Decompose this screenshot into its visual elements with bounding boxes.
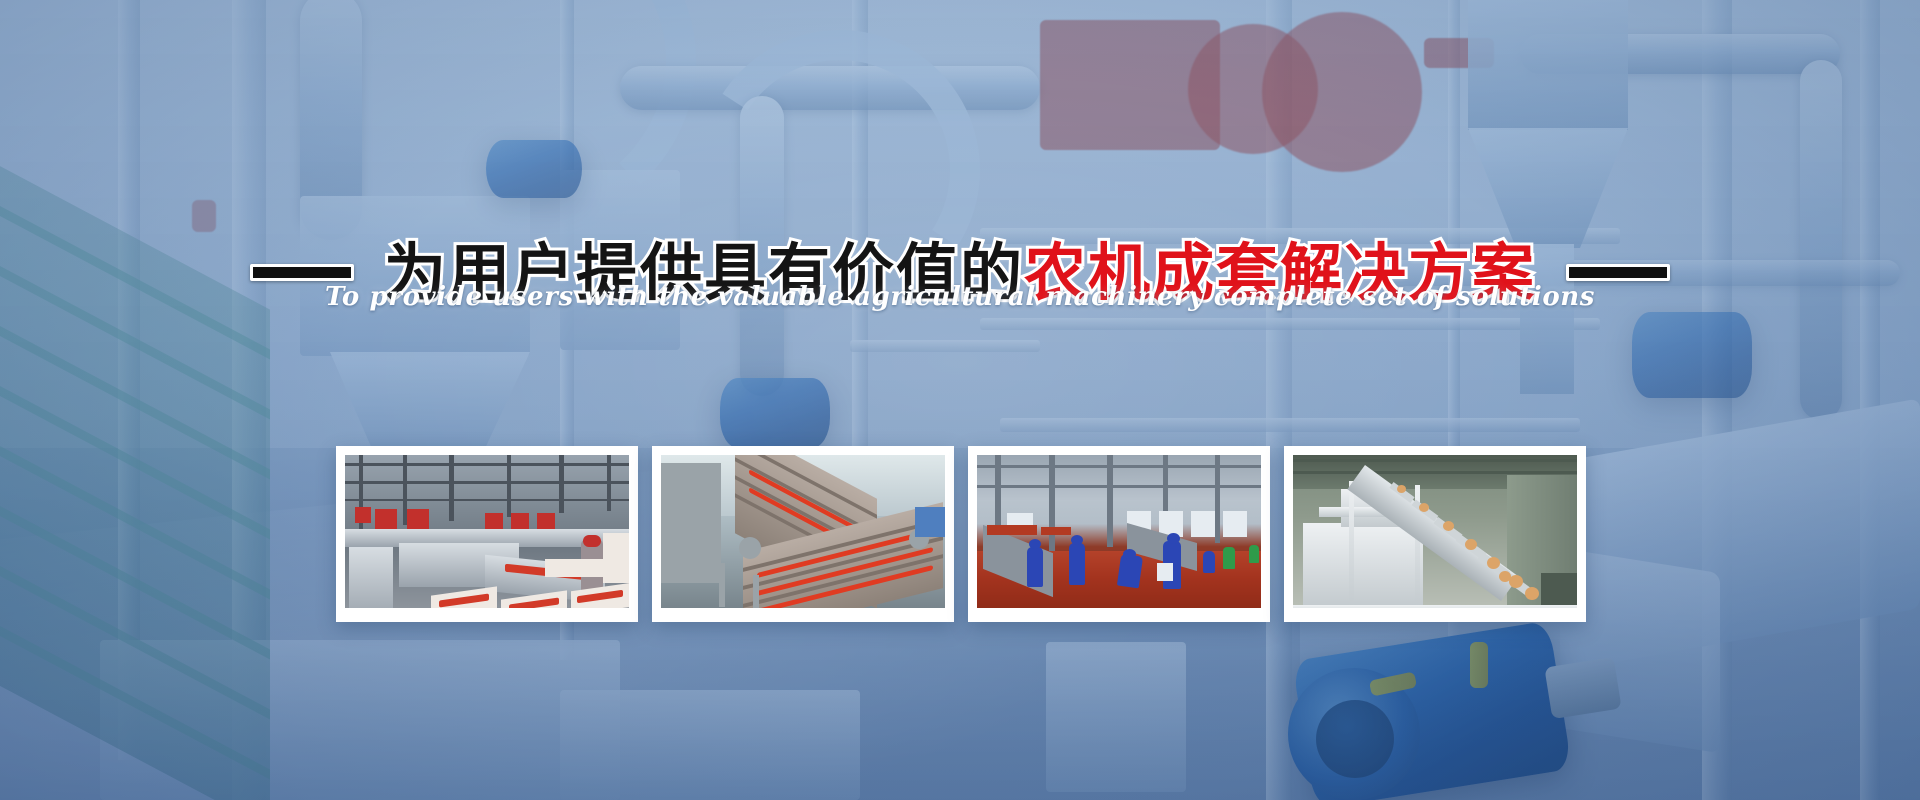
roof-truss [345,481,629,484]
duct-elbow [667,517,711,535]
roof-beam [977,485,1261,488]
worker [1069,543,1085,585]
worker-cap [1029,539,1041,549]
worker-green-coat [1223,547,1235,569]
worker-sack [1157,563,1173,581]
equipment-shadow [1541,573,1577,608]
red-banner [355,507,371,523]
onion [1525,587,1539,600]
onion [1499,571,1511,582]
support-post [1349,481,1354,608]
hero-banner: 为用户提供具有价值的农机成套解决方案 To provide users with… [0,0,1920,800]
onion [1487,557,1500,569]
thumbnail-image [345,455,629,608]
worker-cap [1071,535,1083,545]
worker-cap [1123,549,1136,559]
thumbnail-image [661,455,945,608]
red-banner [407,509,429,529]
support-leg [753,575,759,608]
roof-beam [1293,471,1577,474]
onion [1509,575,1523,588]
thumbnail-goji-berry-processing-line[interactable] [336,446,638,622]
red-banner [375,509,397,529]
thumbnail-onion-bucket-elevator[interactable] [1284,446,1586,622]
red-machine [987,525,1037,535]
processing-machine [1303,523,1423,607]
thumbnail-chilli-drying-warehouse[interactable] [968,446,1270,622]
blue-wall-panel [915,507,945,537]
stacked-crates [603,533,629,583]
red-machine [1041,527,1071,535]
onion [1465,539,1477,550]
floor-slab [1293,605,1577,608]
worker [1203,551,1215,573]
drive-roller [739,537,761,559]
thumbnail-strip [336,446,1586,622]
duct [687,469,711,555]
roof-truss [559,455,564,513]
roof-beam [977,465,1261,468]
steel-column [1107,455,1113,547]
drying-tray [545,559,603,577]
worker [1027,547,1043,587]
steel-column [1215,455,1220,543]
roof-truss [507,455,511,517]
roof-truss [449,455,454,521]
banner-content: 为用户提供具有价值的农机成套解决方案 To provide users with… [0,0,1920,800]
support-leg [719,563,725,607]
page-subtitle: To provide users with the valuable agric… [0,282,1920,312]
drying-rack [349,547,393,608]
right-dash-decoration [1566,264,1670,281]
warehouse-window [1223,511,1247,537]
roof-beam [1293,459,1577,462]
left-dash-decoration [250,264,354,281]
warehouse-window [1191,511,1215,537]
onion [1419,503,1429,512]
onion [1443,521,1454,531]
roof-truss [345,499,629,501]
thumbnail-image [977,455,1261,608]
steel-column [1049,455,1055,551]
roof-truss [345,463,629,466]
thumbnail-image [1293,455,1577,608]
worker-green-coat [1249,545,1259,563]
roof-truss [607,455,611,511]
worker-headscarf [583,535,601,547]
onion [1397,485,1406,493]
headline-row: 为用户提供具有价值的农机成套解决方案 [0,196,1920,349]
thumbnail-mesh-belt-dryer-conveyor[interactable] [652,446,954,622]
worker-cap [1167,533,1180,544]
